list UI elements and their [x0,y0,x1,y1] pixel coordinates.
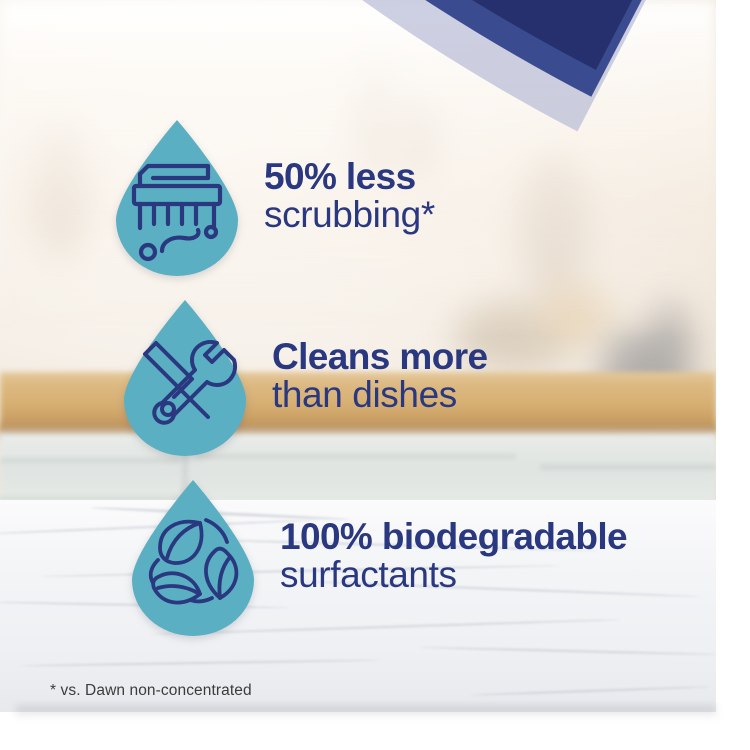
scene-drop-shadow [16,706,716,718]
benefit-text: Cleans more than dishes [272,338,488,415]
benefit-text: 100% biodegradable surfactants [280,518,627,595]
water-drop-badge [112,296,258,456]
water-drop-badge [104,116,250,276]
benefit-headline: Cleans more [272,338,488,376]
benefit-headline: 100% biodegradable [280,518,627,556]
benefit-subline: surfactants [280,556,627,594]
benefit-item-biodegradable: 100% biodegradable surfactants [120,476,627,636]
benefit-headline: 50% less [264,158,435,196]
water-drop-badge [120,476,266,636]
promo-panel: 50% less scrubbing* [0,0,750,750]
benefit-subline: scrubbing* [264,196,435,234]
kitchen-scene-photo: 50% less scrubbing* [0,0,716,712]
benefit-subline: than dishes [272,376,488,414]
benefit-text: 50% less scrubbing* [264,158,435,235]
benefit-item-cleans-more: Cleans more than dishes [112,296,488,456]
benefit-item-scrubbing: 50% less scrubbing* [104,116,435,276]
footnote-text: * vs. Dawn non-concentrated [50,682,252,700]
